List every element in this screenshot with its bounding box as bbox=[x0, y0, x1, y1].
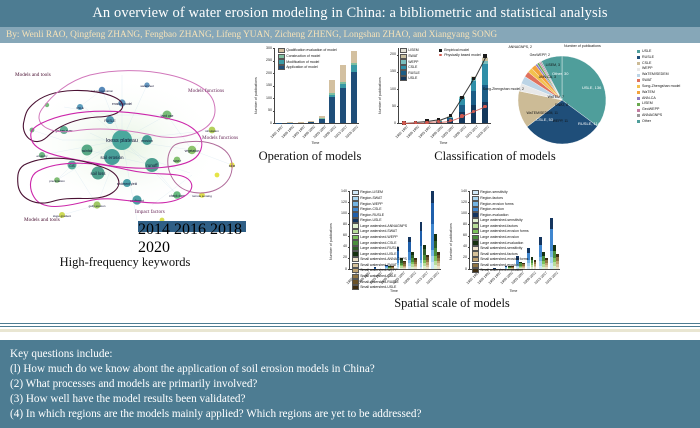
legend-item: Large watershed-ANNAGNPS bbox=[352, 223, 407, 228]
legend-swatch bbox=[352, 223, 359, 228]
legend-item: Small watershed-factors bbox=[472, 251, 529, 256]
x-axis-title: Time bbox=[510, 289, 518, 293]
bar-segment bbox=[437, 266, 440, 269]
chart-legend: LISEMSWATWEPPCSLERUSLEUSLE bbox=[400, 48, 420, 81]
region-label-models-tools-2: Models and tools bbox=[24, 217, 60, 223]
legend-item: Large watershed-CSLE bbox=[352, 240, 407, 245]
y-axis-title: Number of publications bbox=[378, 77, 382, 114]
legend-swatch bbox=[352, 263, 359, 268]
legend-label: Small watershed-factors bbox=[480, 252, 518, 257]
bar-segment bbox=[319, 118, 325, 119]
bar-segment bbox=[308, 122, 314, 124]
colorbar-tick: 2020 bbox=[138, 239, 170, 256]
caption-operation-of-models: Operation of models bbox=[245, 149, 375, 164]
svg-text:runoff: runoff bbox=[146, 163, 158, 168]
key-questions-panel: Key questions include: (l) How much do w… bbox=[0, 340, 700, 428]
legend-swatch bbox=[352, 229, 359, 234]
bar bbox=[424, 48, 430, 123]
bar-segment bbox=[414, 260, 417, 262]
chart-operation-of-models: 0501001502002503001982-19871988-19921993… bbox=[258, 45, 363, 145]
bar-segment bbox=[534, 267, 537, 269]
legend-label: Construction of model bbox=[286, 54, 320, 59]
bar-segment bbox=[319, 118, 325, 119]
chart-spatial-scale-models: 0204060801001201401982-19871988-19921993… bbox=[333, 188, 445, 293]
bar-segment bbox=[471, 91, 477, 105]
legend-swatch bbox=[352, 257, 359, 262]
legend-label: Large watershed-erosion bbox=[480, 235, 519, 240]
pie-callout-label: WaTEM, 7 bbox=[478, 95, 564, 99]
legend-swatch bbox=[472, 251, 479, 256]
bar-segment bbox=[329, 80, 335, 94]
bar-segment bbox=[340, 82, 346, 84]
bar-segment bbox=[545, 265, 548, 267]
region-label-models-functions-2: Models functions bbox=[202, 134, 238, 141]
y-tick-label: 100 bbox=[385, 87, 396, 91]
legend-label: Region-LISEM bbox=[360, 190, 383, 195]
legend-item: Large watershed-WEPP bbox=[352, 235, 407, 240]
y-tick-label: 40 bbox=[336, 244, 347, 248]
legend-label: Small watershed-WEPP bbox=[360, 268, 397, 273]
bar-segment bbox=[329, 97, 335, 123]
y-tick-label: 40 bbox=[456, 244, 467, 248]
y-axis-title: Number of publications bbox=[254, 77, 258, 114]
svg-text:loess plateau: loess plateau bbox=[106, 138, 138, 144]
bar-segment bbox=[340, 88, 346, 123]
pie-callout-label: WEPP, 11 bbox=[482, 119, 568, 123]
legend-swatch bbox=[637, 103, 640, 106]
bar-segment bbox=[414, 258, 417, 260]
svg-text:USLE: USLE bbox=[76, 106, 84, 110]
legend-item: Small watershed-erosion bbox=[472, 263, 529, 268]
y-tick-label: 0 bbox=[456, 267, 467, 271]
legend-swatch bbox=[352, 240, 359, 245]
bar-segment bbox=[556, 264, 559, 267]
legend-item: Large watershed-SWAT bbox=[352, 229, 407, 234]
pie-callout-label: ANNAGNPS, 2 bbox=[446, 45, 532, 49]
legend-label: Large watershed-WEPP bbox=[360, 235, 398, 240]
colorbar-ticks: 2014 2016 2018 2020 bbox=[138, 221, 246, 257]
legend-swatch bbox=[400, 59, 407, 64]
legend-label: SWAT bbox=[408, 54, 418, 59]
y-tick-label: 300 bbox=[261, 46, 272, 50]
legend-swatch bbox=[352, 235, 359, 240]
legend-label: Region-CSLE bbox=[360, 207, 381, 212]
legend-label: Small watershed-erosion forms bbox=[480, 257, 528, 262]
legend-item: Small watershed-WEPP bbox=[352, 268, 407, 273]
legend-item: RUSLE bbox=[400, 70, 420, 75]
x-axis-title: Time bbox=[440, 141, 448, 145]
legend-swatch bbox=[637, 79, 640, 82]
legend-label: Large watershed-evaluation bbox=[480, 241, 523, 246]
y-tick-label: 150 bbox=[385, 69, 396, 73]
bar bbox=[534, 191, 537, 269]
legend-swatch bbox=[352, 212, 359, 217]
legend-swatch bbox=[352, 246, 359, 251]
pie-legend: USLERUSLECSLEWEPPWaTEM/SEDEMSWATSong-Zhe… bbox=[637, 49, 680, 125]
bar-segment bbox=[437, 255, 440, 258]
legend-swatch bbox=[472, 240, 479, 245]
y-tick-label: 100 bbox=[336, 211, 347, 215]
questions-heading: Key questions include: bbox=[10, 347, 690, 362]
bar-segment bbox=[298, 122, 304, 123]
bar-segment bbox=[437, 261, 440, 263]
legend-label: Large watershed-SWAT bbox=[360, 229, 397, 234]
y-axis bbox=[349, 191, 350, 269]
legend-swatch bbox=[637, 68, 640, 71]
legend-item: Small watershed-evaluation bbox=[472, 268, 529, 273]
svg-text:sediment yield: sediment yield bbox=[117, 182, 138, 186]
legend-swatch bbox=[637, 85, 640, 88]
bar-segment bbox=[426, 257, 429, 260]
legend-item: Region-factors bbox=[472, 196, 529, 201]
divider-rule-1 bbox=[0, 323, 700, 324]
legend-item: Region-erosion forms bbox=[472, 201, 529, 206]
legend-label: Small watershed-evaluation bbox=[480, 268, 523, 273]
y-tick-label: 140 bbox=[456, 189, 467, 193]
legend-label: Large watershed-RUSLE bbox=[360, 246, 399, 251]
bar-segment bbox=[545, 260, 548, 263]
poster-title-bar: An overview of water erosion modeling in… bbox=[0, 0, 700, 27]
bar-segment bbox=[437, 258, 440, 261]
chart-model-usage-pie: USLE, 136RUSLE, 114CSLE, 53Other, 30ANNA… bbox=[500, 45, 700, 150]
legend-label: Small watershed-RUSLE bbox=[360, 280, 399, 285]
bar-segment bbox=[437, 252, 440, 255]
legend-label: Region-erosion forms bbox=[480, 202, 513, 207]
legend-swatch bbox=[400, 70, 407, 75]
y-tick-label: 0 bbox=[385, 121, 396, 125]
legend-item: Region-CSLE bbox=[352, 207, 407, 212]
legend-swatch bbox=[472, 207, 479, 212]
y-tick-label: 50 bbox=[261, 108, 272, 112]
svg-text:rainfall: rainfall bbox=[82, 149, 93, 153]
colorbar-tick: 2016 bbox=[174, 221, 206, 238]
bar-segment bbox=[319, 116, 325, 118]
bar-segment bbox=[437, 263, 440, 266]
y-axis-title: Number of publications bbox=[449, 223, 453, 260]
y-tick-label: 80 bbox=[456, 222, 467, 226]
bar-segment bbox=[426, 262, 429, 264]
legend-item: Region-evaluation bbox=[472, 212, 529, 217]
legend-swatch bbox=[472, 257, 479, 262]
bar-segment bbox=[459, 105, 465, 113]
legend-label: Large watershed-factors bbox=[480, 224, 518, 229]
legend-label: Small watershed-ANNAGNPS bbox=[360, 257, 407, 262]
legend-item: Region-sensitivity bbox=[472, 190, 529, 195]
region-label-impact-factors: Impact factors bbox=[135, 208, 165, 215]
bar-segment bbox=[534, 262, 537, 264]
legend-item: Large watershed-RUSLE bbox=[352, 246, 407, 251]
bar-segment bbox=[545, 258, 548, 260]
bar-segment bbox=[534, 260, 537, 262]
y-axis-title: Number of publications bbox=[329, 223, 333, 260]
x-axis bbox=[274, 123, 359, 124]
legend-swatch bbox=[472, 229, 479, 234]
legend-label: RUSLE bbox=[408, 71, 420, 76]
legend-label: Application of model bbox=[286, 65, 318, 70]
bar-segment bbox=[308, 121, 314, 122]
bar-segment bbox=[414, 264, 417, 266]
bar-segment bbox=[340, 65, 346, 81]
bar bbox=[351, 48, 357, 123]
bar-segment bbox=[534, 266, 537, 268]
legend-item: Region-USLE bbox=[352, 218, 407, 223]
poster-author-bar: By: Wenli RAO, Qingfeng ZHANG, Fengbao Z… bbox=[0, 27, 700, 43]
legend-swatch bbox=[278, 59, 285, 64]
bar-segment bbox=[329, 95, 335, 97]
bar-segment bbox=[534, 264, 537, 266]
legend-label: Small watershed-erosion bbox=[480, 263, 519, 268]
bar-segment bbox=[426, 267, 429, 269]
legend-label: LISEM bbox=[408, 48, 419, 53]
legend-item: Region-WEPP bbox=[352, 201, 407, 206]
legend-item: Application of model bbox=[278, 65, 337, 70]
legend-swatch bbox=[472, 201, 479, 206]
region-label-models-tools-1: Models and tools bbox=[15, 72, 51, 78]
legend-item: Small watershed-erosion forms bbox=[472, 257, 529, 262]
legend-label: Small watershed-USLE bbox=[360, 285, 396, 290]
svg-text:gully erosion: gully erosion bbox=[89, 204, 106, 208]
y-tick-label: 200 bbox=[261, 71, 272, 75]
legend-marker bbox=[438, 53, 443, 58]
legend-item: Small watershed-USLE bbox=[352, 285, 407, 290]
bar-segment bbox=[556, 257, 559, 261]
bar-segment bbox=[351, 63, 357, 66]
legend-swatch bbox=[637, 97, 640, 100]
bar bbox=[436, 48, 442, 123]
legend-swatch bbox=[637, 50, 640, 53]
y-tick-label: 20 bbox=[456, 255, 467, 259]
question-item: (2) What processes and models are primar… bbox=[10, 377, 690, 392]
legend-label: Small watershed-CSLE bbox=[360, 274, 396, 279]
y-tick-label: 150 bbox=[261, 83, 272, 87]
y-tick-label: 20 bbox=[336, 255, 347, 259]
legend-item: Small watershed-CSLE bbox=[352, 274, 407, 279]
bar-segment bbox=[556, 267, 559, 269]
chart-legend: Region-sensitivityRegion-factorsRegion-e… bbox=[472, 190, 529, 274]
caption-spatial-scale-of-models: Spatial scale of models bbox=[372, 296, 532, 311]
colorbar-tick: 2018 bbox=[210, 221, 242, 238]
legend-item: Qualification evaluation of model bbox=[278, 48, 337, 53]
bar-segment bbox=[351, 72, 357, 123]
y-axis bbox=[469, 191, 470, 269]
bar-segment bbox=[556, 254, 559, 257]
legend-label: Region-evaluation bbox=[480, 213, 508, 218]
legend-swatch bbox=[637, 56, 640, 59]
bar-segment bbox=[426, 265, 429, 267]
page-title: An overview of water erosion modeling in… bbox=[92, 5, 607, 22]
legend-item: Region-RUSLE bbox=[352, 212, 407, 217]
y-tick-label: 0 bbox=[261, 121, 272, 125]
chart-legend: Qualification evaluation of modelConstru… bbox=[278, 48, 337, 70]
pie-callout-label: Song-Zhengshan model, 2 bbox=[438, 87, 524, 91]
legend-swatch bbox=[472, 235, 479, 240]
legend-swatch bbox=[472, 190, 479, 195]
legend-swatch bbox=[637, 114, 640, 117]
chart-research-topic-scale: 0204060801001201401982-19871988-19921993… bbox=[452, 188, 564, 293]
y-tick-label: 100 bbox=[456, 211, 467, 215]
svg-text:SWAT: SWAT bbox=[173, 159, 181, 163]
pie-callout-label: WaTEM/SEDEM, 11 bbox=[472, 111, 558, 115]
question-item: (3) How well have the model results been… bbox=[10, 392, 690, 407]
y-tick-label: 120 bbox=[336, 200, 347, 204]
legend-swatch bbox=[352, 218, 359, 223]
svg-text:erosivity: erosivity bbox=[36, 154, 48, 158]
legend-swatch bbox=[472, 212, 479, 217]
legend-item: Region-LISEM bbox=[352, 190, 407, 195]
bar bbox=[545, 191, 548, 269]
legend-swatch bbox=[352, 268, 359, 273]
pie-svg bbox=[500, 45, 630, 153]
legend-swatch bbox=[472, 218, 479, 223]
legend-label: Large watershed-CSLE bbox=[360, 241, 396, 246]
poster-root: An overview of water erosion modeling in… bbox=[0, 0, 700, 428]
bar-segment bbox=[287, 123, 293, 124]
legend-swatch bbox=[472, 263, 479, 268]
y-tick-label: 60 bbox=[456, 233, 467, 237]
y-tick-label: 120 bbox=[456, 200, 467, 204]
legend-label: Region-sensitivity bbox=[480, 190, 507, 195]
y-tick-label: 250 bbox=[261, 58, 272, 62]
legend-swatch bbox=[637, 62, 640, 65]
y-tick-label: 140 bbox=[336, 189, 347, 193]
colorbar-tick: 2014 bbox=[138, 221, 170, 238]
legend-item: Modification of model bbox=[278, 59, 337, 64]
divider-rule-2 bbox=[0, 326, 700, 327]
legend-label: WEPP bbox=[408, 60, 418, 65]
svg-text:remote sensing: remote sensing bbox=[192, 194, 212, 198]
legend-swatch bbox=[278, 54, 285, 59]
pie-callout-label: LISEM, 3 bbox=[474, 63, 560, 67]
question-item: (l) How much do we know abont the applic… bbox=[10, 362, 690, 377]
svg-text:soil erosion: soil erosion bbox=[100, 155, 124, 160]
legend-item: Small watershed-ANNAGNPS bbox=[352, 257, 407, 262]
y-axis bbox=[274, 48, 275, 123]
keyword-colorbar: 2014 2016 2018 2020 bbox=[138, 221, 246, 232]
legend-label: Qualification evaluation of model bbox=[286, 48, 337, 53]
legend-swatch bbox=[352, 201, 359, 206]
legend-label: Region-RUSLE bbox=[360, 213, 384, 218]
legend-item: USLE bbox=[400, 76, 420, 81]
legend-swatch bbox=[472, 268, 479, 273]
legend-label: Region-erosion bbox=[480, 207, 504, 212]
legend-item: LISEM bbox=[400, 48, 420, 53]
legend-item: CSLE bbox=[400, 65, 420, 70]
legend-swatch bbox=[637, 120, 640, 123]
y-tick-label: 0 bbox=[336, 267, 347, 271]
bar-segment bbox=[351, 65, 357, 72]
caption-high-frequency-keywords: High-frequency keywords bbox=[30, 255, 220, 270]
legend-item: Large watershed-evaluation bbox=[472, 240, 529, 245]
legend-item: Small watershed-SWAT bbox=[352, 263, 407, 268]
legend-item: Large watershed-sensitivity bbox=[472, 218, 529, 223]
legend-swatch bbox=[637, 109, 640, 112]
bar bbox=[556, 191, 559, 269]
legend-label: USLE bbox=[408, 76, 417, 81]
legend-swatch bbox=[637, 91, 640, 94]
svg-text:vegetation: vegetation bbox=[185, 149, 200, 153]
legend-label: Region-USLE bbox=[360, 218, 381, 223]
bar-segment bbox=[545, 267, 548, 269]
legend-item: WEPP bbox=[400, 59, 420, 64]
legend-item: Region-SWAT bbox=[352, 196, 407, 201]
bar bbox=[437, 191, 440, 269]
bar bbox=[414, 191, 417, 269]
chart-legend: Region-LISEMRegion-SWATRegion-WEPPRegion… bbox=[352, 190, 407, 290]
bar-segment bbox=[340, 84, 346, 89]
legend-label: Other bbox=[642, 119, 651, 125]
legend-item: Other bbox=[637, 119, 680, 125]
legend-item: Region-erosion bbox=[472, 207, 529, 212]
bar-segment bbox=[414, 262, 417, 264]
bar-segment bbox=[319, 119, 325, 123]
legend-label: Region-SWAT bbox=[360, 196, 382, 201]
legend-swatch bbox=[352, 190, 359, 195]
svg-text:RUSLE: RUSLE bbox=[104, 119, 116, 123]
legend-swatch bbox=[352, 274, 359, 279]
legend-item: Construction of model bbox=[278, 54, 337, 59]
legend-swatch bbox=[400, 76, 407, 81]
legend-swatch bbox=[352, 279, 359, 284]
svg-text:watershed: watershed bbox=[140, 84, 154, 88]
legend-swatch bbox=[278, 48, 285, 53]
legend-item: SWAT bbox=[400, 54, 420, 59]
legend-item: Large watershed-erosion bbox=[472, 235, 529, 240]
svg-text:precipitation: precipitation bbox=[49, 179, 65, 183]
legend-swatch bbox=[472, 246, 479, 251]
bar bbox=[340, 48, 346, 123]
bar-segment bbox=[329, 93, 335, 94]
bar bbox=[459, 48, 465, 123]
pie-callout-label: ANN-CA, 3 bbox=[470, 75, 556, 79]
divider-rule-3 bbox=[0, 329, 700, 332]
legend-item: Large watershed-factors bbox=[472, 223, 529, 228]
y-tick-label: 80 bbox=[336, 222, 347, 226]
svg-text:soil loss: soil loss bbox=[91, 171, 106, 176]
y-axis bbox=[398, 48, 399, 123]
legend-label: Small watershed-sensitivity bbox=[480, 246, 522, 251]
bar-segment bbox=[414, 266, 417, 268]
bar-segment bbox=[545, 263, 548, 265]
legend-swatch bbox=[352, 207, 359, 212]
legend-label: Large watershed-ANNAGNPS bbox=[360, 224, 407, 229]
y-tick-label: 60 bbox=[336, 233, 347, 237]
pie-slice-label: USLE, 136 bbox=[582, 85, 601, 90]
legend-swatch bbox=[352, 251, 359, 256]
keyword-network-map: loess plateau soil erosion runoff soil l… bbox=[2, 45, 252, 260]
legend-item: Large watershed-USLE bbox=[352, 251, 407, 256]
legend-item: Large watershed-erosion forms bbox=[472, 229, 529, 234]
author-list: By: Wenli RAO, Qingfeng ZHANG, Fengbao Z… bbox=[6, 30, 497, 40]
legend-label: Large watershed-sensitivity bbox=[480, 218, 522, 223]
legend-item: Small watershed-sensitivity bbox=[472, 246, 529, 251]
legend-label: CSLE bbox=[408, 65, 417, 70]
legend-label: Large watershed-USLE bbox=[360, 252, 396, 257]
pie-callout-label: SWAT, 8 bbox=[482, 103, 568, 107]
legend-label: Region-WEPP bbox=[360, 202, 383, 207]
legend-swatch bbox=[278, 65, 285, 70]
y-tick-label: 100 bbox=[261, 96, 272, 100]
legend-swatch bbox=[400, 54, 407, 59]
y-tick-label: 50 bbox=[385, 104, 396, 108]
bar-segment bbox=[426, 255, 429, 257]
legend-label: Modification of model bbox=[286, 60, 319, 65]
legend-label: Region-factors bbox=[480, 196, 503, 201]
question-item: (4) In which regions are the models main… bbox=[10, 407, 690, 422]
bar-segment bbox=[351, 51, 357, 63]
legend-swatch bbox=[637, 74, 640, 77]
bar-segment bbox=[414, 267, 417, 269]
legend-swatch bbox=[400, 48, 407, 53]
